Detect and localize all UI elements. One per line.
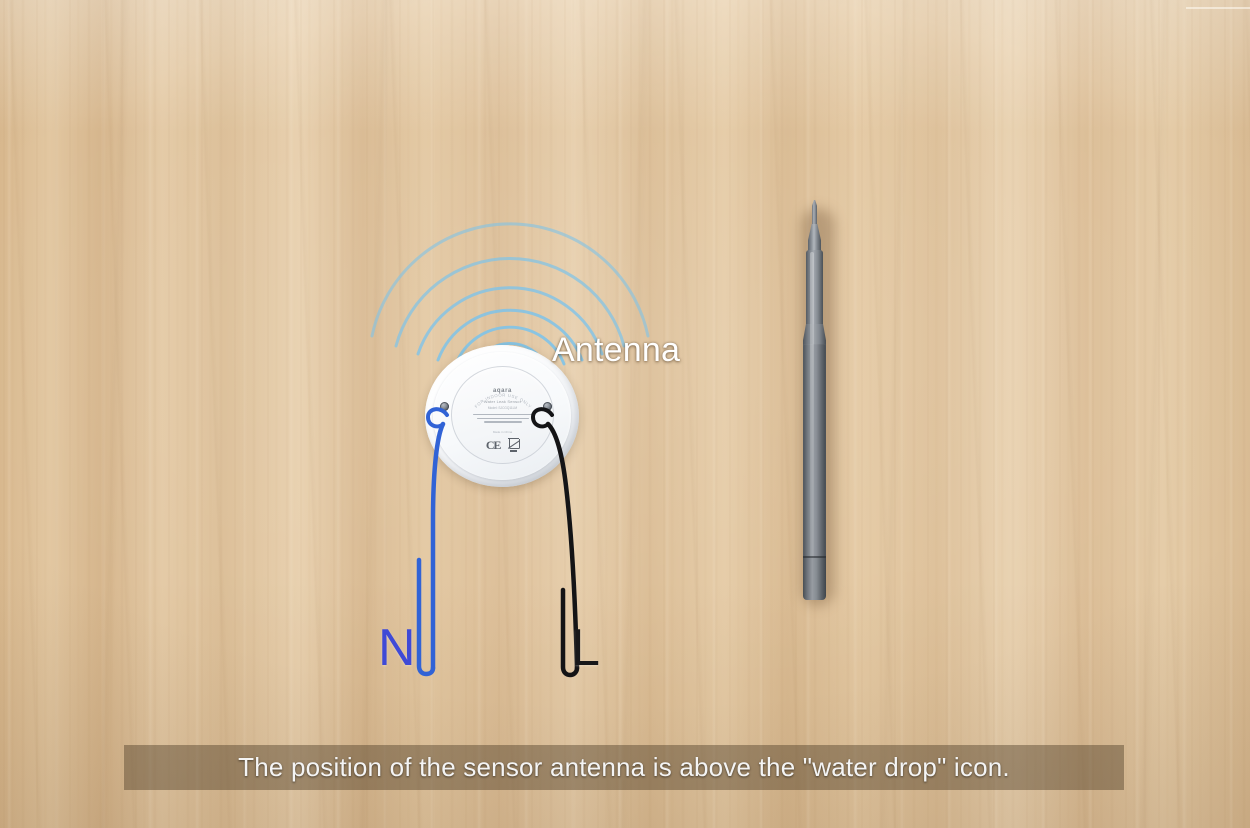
tool-body [803, 344, 826, 577]
terminal-right-live [539, 398, 556, 415]
terminal-left-neutral [436, 398, 453, 415]
tool-end-cap [803, 558, 826, 600]
tool-upper-shaft [806, 250, 823, 328]
scene-vignette [0, 0, 1250, 828]
subtitle-text: The position of the sensor antenna is ab… [238, 752, 1010, 783]
wire-label-live: L [571, 622, 600, 674]
sensor-compliance-marks: CE [451, 437, 554, 451]
subtitle-bar: The position of the sensor antenna is ab… [124, 745, 1124, 790]
wire-label-neutral: N [378, 622, 416, 674]
frame-top-highlight [1186, 7, 1250, 9]
sensor-brand-text: aqara [451, 388, 554, 394]
tool-highlight [810, 252, 814, 598]
antenna-callout-label: Antenna [552, 331, 680, 370]
video-frame: FOR INDOOR USE ONLY aqara Water Leak Sen… [0, 0, 1250, 828]
sensor-spec-lines [473, 414, 533, 425]
tool-tip [812, 200, 817, 226]
tool-shoulder [803, 324, 826, 346]
sensor-origin-text: Made in China [451, 430, 554, 434]
screw-icon [440, 402, 449, 411]
weee-bin-icon [508, 437, 519, 451]
ce-mark-icon: CE [486, 439, 500, 451]
sensor-back-label: FOR INDOOR USE ONLY aqara Water Leak Sen… [451, 366, 554, 464]
screw-icon [543, 402, 552, 411]
screwdriver-tool [790, 198, 850, 603]
